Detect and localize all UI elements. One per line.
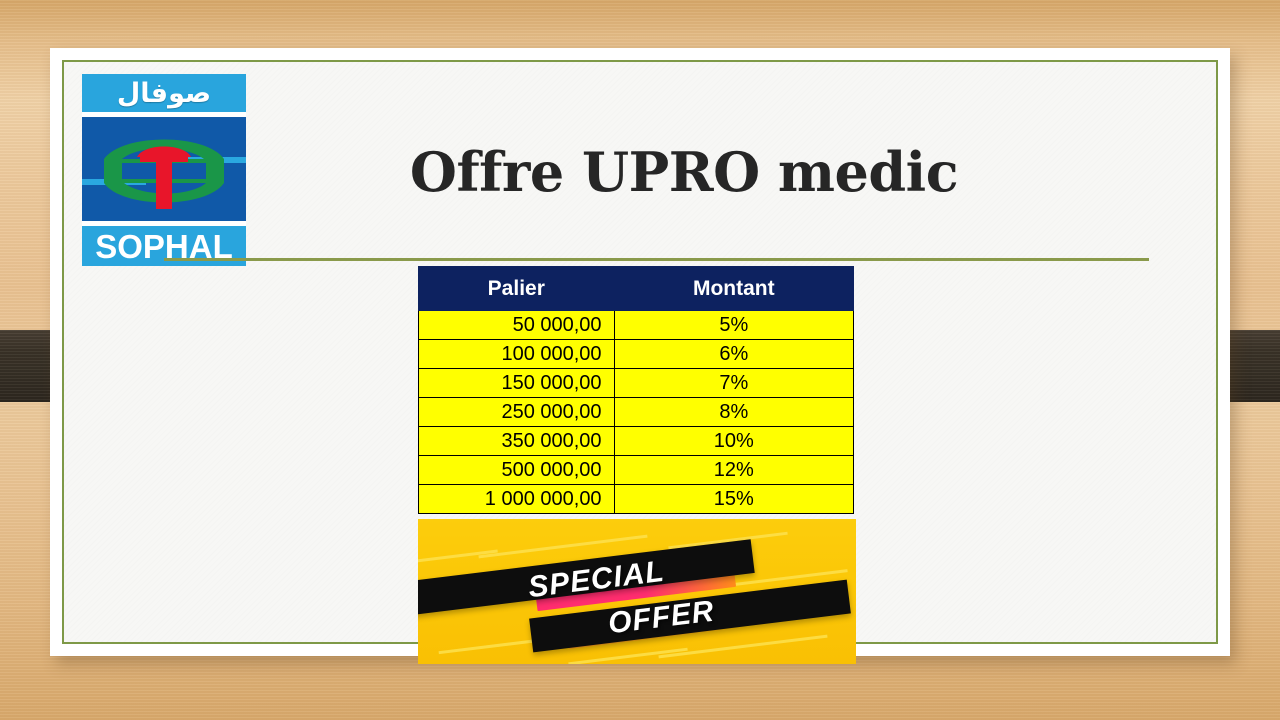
- pricing-table: Palier Montant 50 000,00 5% 100 000,00 6…: [418, 266, 854, 514]
- cell-montant: 6%: [614, 340, 853, 369]
- column-header-montant: Montant: [614, 267, 853, 311]
- table-row: 350 000,00 10%: [419, 427, 854, 456]
- cell-palier: 350 000,00: [419, 427, 615, 456]
- cell-palier: 1 000 000,00: [419, 485, 615, 514]
- cell-palier: 100 000,00: [419, 340, 615, 369]
- table-row: 100 000,00 6%: [419, 340, 854, 369]
- cell-montant: 5%: [614, 311, 853, 340]
- logo-emblem-svg: [82, 117, 246, 224]
- logo-emblem-icon: [82, 114, 246, 224]
- cell-montant: 7%: [614, 369, 853, 398]
- table-body: 50 000,00 5% 100 000,00 6% 150 000,00 7%…: [419, 311, 854, 514]
- table-row: 500 000,00 12%: [419, 456, 854, 485]
- table-row: 50 000,00 5%: [419, 311, 854, 340]
- presentation-slide: صوفال: [50, 48, 1230, 656]
- cell-palier: 50 000,00: [419, 311, 615, 340]
- page-title: Offre UPRO medic: [264, 140, 1104, 204]
- cell-palier: 500 000,00: [419, 456, 615, 485]
- banner-line-2: OFFER: [606, 595, 716, 642]
- cell-montant: 10%: [614, 427, 853, 456]
- cell-palier: 150 000,00: [419, 369, 615, 398]
- table-row: 1 000 000,00 15%: [419, 485, 854, 514]
- banner-speck: [658, 635, 827, 659]
- table-row: 150 000,00 7%: [419, 369, 854, 398]
- cell-montant: 8%: [614, 398, 853, 427]
- sophal-logo: صوفال: [82, 74, 246, 266]
- cell-montant: 15%: [614, 485, 853, 514]
- column-header-palier: Palier: [419, 267, 615, 311]
- logo-arabic-band: صوفال: [82, 74, 246, 114]
- logo-arabic-name: صوفال: [117, 80, 211, 107]
- slide-content-area: صوفال: [62, 60, 1218, 644]
- table-row: 250 000,00 8%: [419, 398, 854, 427]
- special-offer-banner: SPECIAL OFFER: [418, 519, 856, 664]
- cell-montant: 12%: [614, 456, 853, 485]
- cell-palier: 250 000,00: [419, 398, 615, 427]
- table-header-row: Palier Montant: [419, 267, 854, 311]
- slide-stage: صوفال: [0, 0, 1280, 720]
- title-divider-rule: [164, 258, 1149, 261]
